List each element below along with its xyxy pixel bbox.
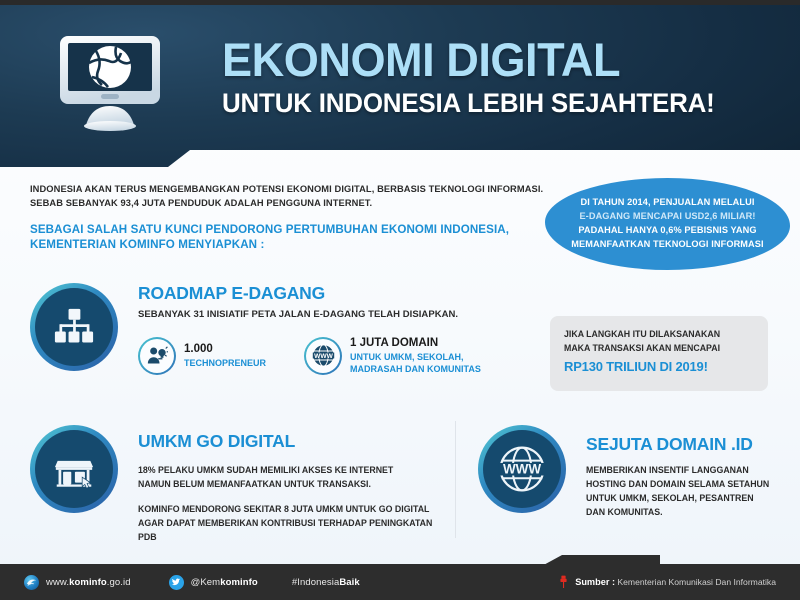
page-subtitle: UNTUK INDONESIA LEBIH SEJAHTERA! (222, 90, 760, 117)
www-globe-icon: WWW (311, 343, 336, 368)
footer-source: Sumber : Kementerian Komunikasi Dan Info… (559, 575, 776, 589)
footer-source-value: Kementerian Komunikasi Dan Informatika (617, 577, 776, 587)
callout-line-2: E-DAGANG MENCAPAI USD2,6 MILIAR! (571, 210, 763, 224)
section-roadmap-edagang: ROADMAP E-DAGANG SEBANYAK 31 INISIATIF P… (30, 283, 520, 375)
callout-line-1: DI TAHUN 2014, PENJUALAN MELALUI (571, 196, 763, 210)
twitter-bird-icon (169, 575, 184, 590)
intro-line-2: SEBAB SEBANYAK 93,4 JUTA PENDUDUK ADALAH… (30, 196, 550, 210)
technopreneur-value: 1.000 (184, 342, 266, 356)
section-sejuta-domain-id: WWW SEJUTA DOMAIN .ID MEMBERIKAN INSENTI… (478, 425, 798, 519)
ecommerce-stat-callout: DI TAHUN 2014, PENJUALAN MELALUI E-DAGAN… (545, 178, 790, 270)
graybox-highlight: RP130 TRILIUN DI 2019! (564, 359, 768, 374)
domain-para-line-2: HOSTING DAN DOMAIN SELAMA SETAHUN (586, 477, 798, 491)
storefront-cursor-icon (52, 449, 96, 489)
umkm-para-2: KOMINFO MENDORONG SEKITAR 8 JUTA UMKM UN… (138, 502, 450, 544)
technopreneur-label: TECHNOPRENEUR (184, 357, 266, 369)
header-text-block: EKONOMI DIGITAL UNTUK INDONESIA LEBIH SE… (222, 36, 782, 117)
footer-hashtag[interactable]: #IndonesiaBaik (292, 577, 360, 588)
roadmap-subheading: SEBANYAK 31 INISIATIF PETA JALAN E-DAGAN… (138, 308, 520, 322)
intro-block: INDONESIA AKAN TERUS MENGEMBANGKAN POTEN… (30, 182, 550, 253)
page-title: EKONOMI DIGITAL (222, 36, 760, 83)
roadmap-stat-technopreneur: 1.000 TECHNOPRENEUR (138, 336, 266, 375)
umkm-para-2-line-2: AGAR DAPAT MEMBERIKAN KONTRIBUSI TERHADA… (138, 516, 450, 544)
graybox-line-1: JIKA LANGKAH ITU DILAKSANAKAN (564, 328, 768, 342)
domain-label-line-1: UNTUK UMKM, SEKOLAH, (350, 351, 481, 363)
callout-line-4: MEMANFAATKAN TEKNOLOGI INFORMASI (571, 238, 763, 252)
domain-heading: SEJUTA DOMAIN .ID (586, 434, 798, 455)
footer-twitter-label: @Kemkominfo (191, 577, 258, 588)
svg-text:WWW: WWW (503, 461, 541, 476)
roadmap-heading: ROADMAP E-DAGANG (138, 283, 520, 304)
svg-text:WWW: WWW (314, 353, 333, 360)
section-umkm-go-digital: UMKM GO DIGITAL 18% PELAKU UMKM SUDAH ME… (30, 425, 450, 544)
footer-hashtag-label: #IndonesiaBaik (292, 577, 360, 588)
section-divider (455, 421, 456, 538)
header-top-rule (0, 0, 800, 5)
technopreneur-icon (146, 346, 168, 366)
footer-website[interactable]: www.kominfo.go.id (24, 575, 131, 590)
domain-para-line-3: UNTUK UMKM, SEKOLAH, PESANTREN (586, 491, 798, 505)
roadmap-stat-domain: WWW 1 JUTA DOMAIN UNTUK UMKM, SEKOLAH, M… (304, 336, 481, 375)
domain-para-line-1: MEMBERIKAN INSENTIF LANGGANAN (586, 463, 798, 477)
infographic-page: EKONOMI DIGITAL UNTUK INDONESIA LEBIH SE… (0, 0, 800, 600)
umkm-para-1: 18% PELAKU UMKM SUDAH MEMILIKI AKSES KE … (138, 463, 450, 491)
intro-highlight-line-1: SEBAGAI SALAH SATU KUNCI PENDORONG PERTU… (30, 222, 550, 238)
intro-line-1: INDONESIA AKAN TERUS MENGEMBANGKAN POTEN… (30, 182, 550, 196)
domain-para-line-4: DAN KOMUNITAS. (586, 505, 798, 519)
projection-callout-box: JIKA LANGKAH ITU DILAKSANAKAN MAKA TRANS… (550, 316, 768, 391)
domain-value: 1 JUTA DOMAIN (350, 336, 481, 350)
footer-content: www.kominfo.go.id @Kemkominfo #Indonesia… (0, 564, 800, 600)
umkm-icon-badge (30, 425, 118, 513)
umkm-para-2-line-1: KOMINFO MENDORONG SEKITAR 8 JUTA UMKM UN… (138, 502, 450, 516)
kominfo-logo-icon (24, 575, 39, 590)
intro-highlight: SEBAGAI SALAH SATU KUNCI PENDORONG PERTU… (30, 222, 550, 253)
domain-icon-badge: WWW (478, 425, 566, 513)
roadmap-icon-badge (30, 283, 118, 371)
intro-highlight-line-2: KEMENTERIAN KOMINFO MENYIAPKAN : (30, 237, 550, 253)
domain-para: MEMBERIKAN INSENTIF LANGGANAN HOSTING DA… (586, 463, 798, 519)
monitor-globe-icon (46, 30, 174, 142)
footer-source-label: Sumber : (575, 577, 615, 587)
technopreneur-icon-badge (138, 337, 176, 375)
org-chart-icon (52, 307, 96, 347)
www-globe-icon: WWW (496, 443, 548, 495)
umkm-para-1-line-1: 18% PELAKU UMKM SUDAH MEMILIKI AKSES KE … (138, 463, 450, 477)
umkm-para-1-line-2: NAMUN BELUM MEMANFAATKAN UNTUK TRANSAKSI… (138, 477, 450, 491)
www-globe-icon-badge: WWW (304, 337, 342, 375)
footer-twitter[interactable]: @Kemkominfo (169, 575, 258, 590)
footer-website-label: www.kominfo.go.id (46, 577, 131, 588)
footer-source-text: Sumber : Kementerian Komunikasi Dan Info… (575, 577, 776, 587)
pin-icon (559, 575, 568, 589)
domain-label-line-2: MADRASAH DAN KOMUNITAS (350, 363, 481, 375)
graybox-line-2: MAKA TRANSAKSI AKAN MENCAPAI (564, 342, 768, 356)
umkm-heading: UMKM GO DIGITAL (138, 431, 450, 452)
callout-line-3: PADAHAL HANYA 0,6% PEBISNIS YANG (571, 224, 763, 238)
